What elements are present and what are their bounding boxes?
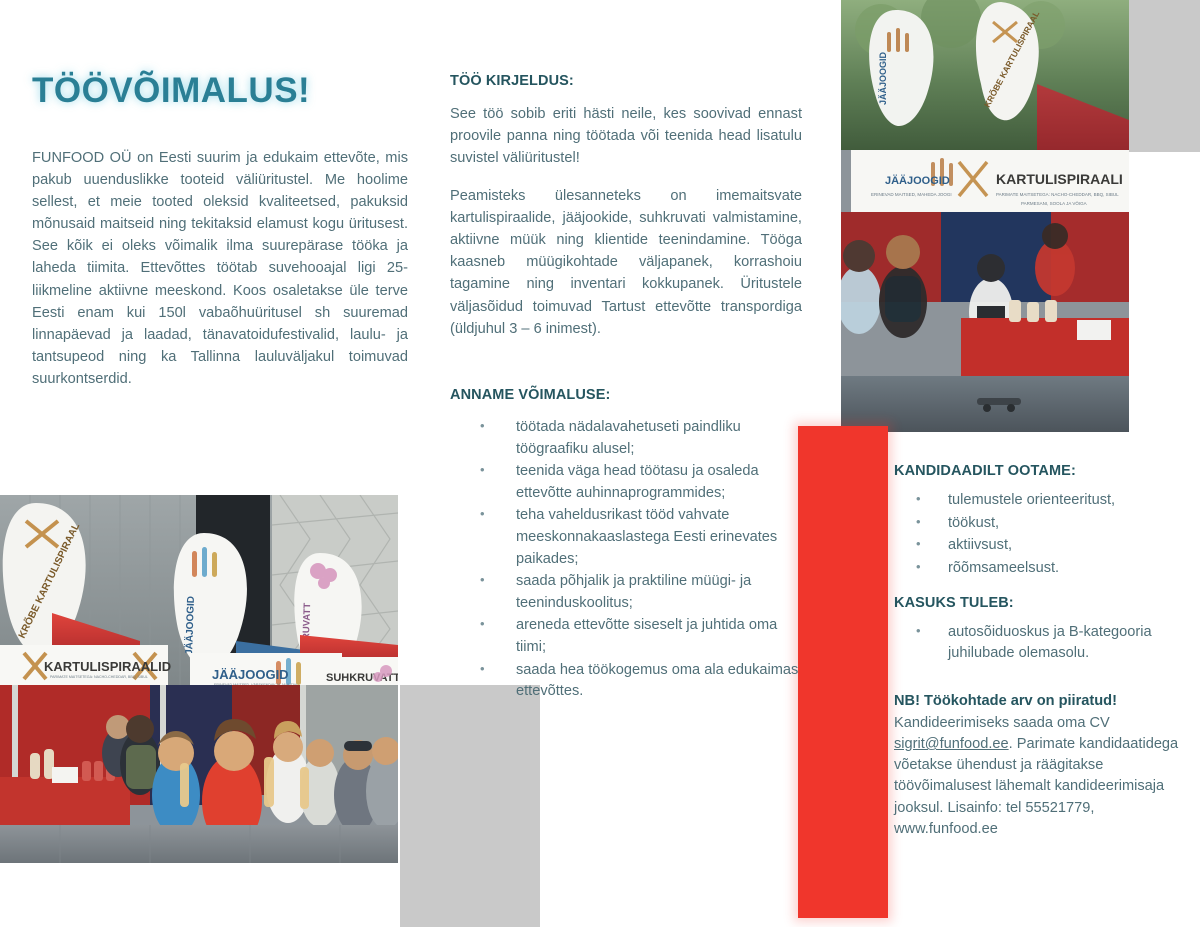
offer-heading: ANNAME VÕIMALUSE: [450,386,802,404]
offer-list: töötada nädalavahetuseti paindliku töögr… [450,417,802,703]
svg-text:PARIMATE MAITSETEGA: NACHO-CHE: PARIMATE MAITSETEGA: NACHO-CHEDDAR, BBQ,… [996,192,1119,197]
svg-text:KARTULISPIRAALID: KARTULISPIRAALID [44,659,171,674]
bonus-list: autosõiduoskus ja B-kategooria juhilubad… [894,622,1184,665]
nb-text-before-email: Kandideerimiseks saada oma CV [894,715,1110,731]
food-stall-crowd-photo-artwork: KRÕBE KARTULISPIRAAL JÄÄJOOGID SUHKRUVAT… [0,495,398,863]
list-item: teenida väga head töötasu ja osaleda ett… [480,461,802,504]
page-title: TÖÖVÕIMALUS! [32,72,408,111]
festival-tents-photo: JÄÄJOOGID KRÕBE KARTULISPIRAAL JÄÄJOOGID… [841,0,1129,432]
svg-text:JÄÄJOOGID: JÄÄJOOGID [212,667,289,682]
festival-tents-photo-artwork: JÄÄJOOGID KRÕBE KARTULISPIRAAL JÄÄJOOGID… [841,0,1129,432]
svg-text:PARMESANI, SOOLA JA VÕIGA: PARMESANI, SOOLA JA VÕIGA [1021,200,1087,206]
email-link[interactable]: sigrit@funfood.ee [894,736,1009,752]
expectations-list: tulemustele orienteeritust, töökust, akt… [894,490,1184,579]
list-item: saada põhjalik ja praktiline müügi- ja t… [480,571,802,614]
expectations-heading: KANDIDAADILT OOTAME: [894,462,1184,480]
svg-text:ERINEVAD MAITSED, MAHEDA JOOGI: ERINEVAD MAITSED, MAHEDA JOOGI [871,192,952,197]
list-item: tulemustele orienteeritust, [916,490,1184,512]
middle-column: TÖÖ KIRJELDUS: See töö sobib eriti hästi… [450,72,802,720]
nb-text: Kandideerimiseks saada oma CV sigrit@fun… [894,713,1184,840]
job-description-heading: TÖÖ KIRJELDUS: [450,72,802,90]
gray-accent-block-bottom-middle [400,685,540,927]
list-item: aktiivsust, [916,535,1184,557]
job-description-paragraph-2: Peamisteks ülesanneteks on imemaitsvate … [450,185,802,340]
list-item: töötada nädalavahetuseti paindliku töögr… [480,417,802,460]
list-item: saada hea töökogemus oma ala edukaimas e… [480,660,802,703]
company-intro-paragraph: FUNFOOD OÜ on Eesti suurim ja edukaim et… [32,147,408,391]
list-item: areneda ettevõtte siseselt ja juhtida om… [480,615,802,658]
svg-text:JÄÄJOOGID: JÄÄJOOGID [885,174,950,187]
list-item: töökust, [916,513,1184,535]
list-item: rõõmsameelsust. [916,558,1184,580]
right-column: KANDIDAADILT OOTAME: tulemustele oriente… [894,462,1184,840]
job-description-paragraph-1: See töö sobib eriti hästi neile, kes soo… [450,103,802,170]
list-item: autosõiduoskus ja B-kategooria juhilubad… [916,622,1184,665]
contact-block: NB! Töökohtade arv on piiratud! Kandidee… [894,691,1184,840]
svg-text:JÄÄJOOGID: JÄÄJOOGID [878,51,888,105]
svg-text:KARTULISPIRAALI: KARTULISPIRAALI [996,171,1123,187]
left-column: TÖÖVÕIMALUS! FUNFOOD OÜ on Eesti suurim … [32,72,408,390]
brochure-page: JÄÄJOOGID KRÕBE KARTULISPIRAAL JÄÄJOOGID… [0,0,1200,927]
nb-title: NB! Töökohtade arv on piiratud! [894,691,1184,712]
red-accent-bar [798,426,888,918]
food-stall-crowd-photo: KRÕBE KARTULISPIRAAL JÄÄJOOGID SUHKRUVAT… [0,495,398,863]
svg-text:PARIMATE MAITSETEGA: NACHO-CHE: PARIMATE MAITSETEGA: NACHO-CHEDDAR, BBQ,… [50,675,148,679]
bonus-heading: KASUKS TULEB: [894,594,1184,612]
list-item: teha vaheldusrikast tööd vahvate meeskon… [480,505,802,570]
